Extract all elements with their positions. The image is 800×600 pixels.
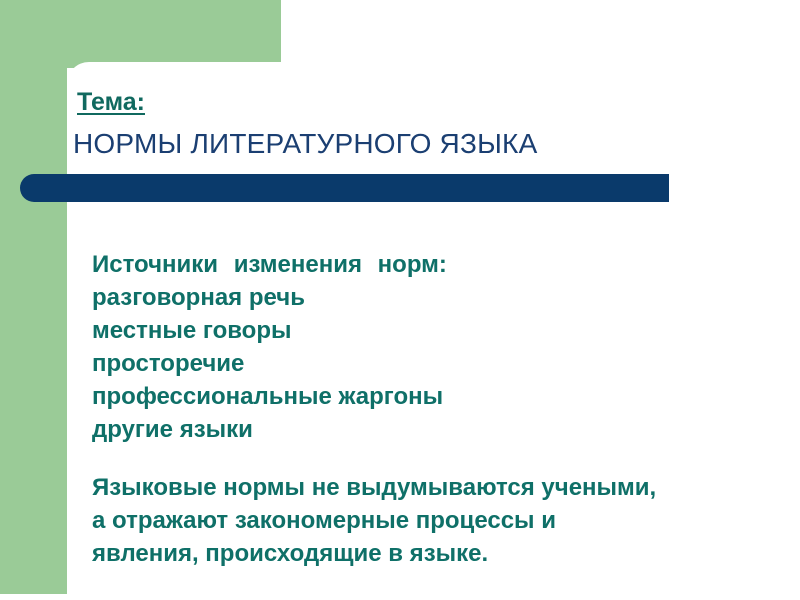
body-line: профессиональные жаргоны xyxy=(92,380,772,413)
body-line: а отражают закономерные процессы и xyxy=(92,504,772,537)
body-line: просторечие xyxy=(92,347,772,380)
body-line: Источники изменения норм: xyxy=(92,248,772,281)
body-line: разговорная речь xyxy=(92,281,772,314)
body-line: явления, происходящие в языке. xyxy=(92,537,772,570)
body-line: местные говоры xyxy=(92,314,772,347)
body-paragraph-sources: Источники изменения норм: разговорная ре… xyxy=(92,248,772,446)
title-kicker: Тема: xyxy=(77,88,145,117)
slide-canvas: Тема: НОРМЫ ЛИТЕРАТУРНОГО ЯЗЫКА Источник… xyxy=(0,0,800,600)
page-title: НОРМЫ ЛИТЕРАТУРНОГО ЯЗЫКА xyxy=(73,128,537,160)
body-paragraph-conclusion: Языковые нормы не выдумываются учеными, … xyxy=(92,471,772,570)
body-line: другие языки xyxy=(92,413,772,446)
body-line: Языковые нормы не выдумываются учеными, xyxy=(92,471,772,504)
